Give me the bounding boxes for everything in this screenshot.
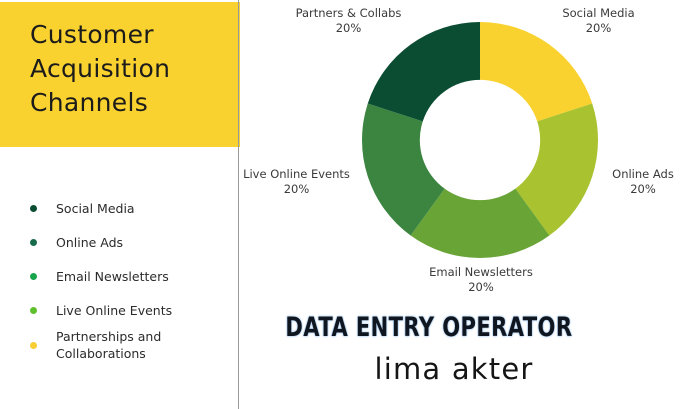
- slice-label-percent: 20%: [536, 21, 661, 36]
- donut-chart: [362, 22, 598, 258]
- donut-slice[interactable]: [480, 22, 592, 121]
- legend-item-social-media[interactable]: Social Media: [30, 192, 235, 225]
- legend-item-label: Online Ads: [56, 234, 123, 251]
- role-title: DATA ENTRY OPERATOR: [75, 312, 605, 343]
- donut-slice[interactable]: [368, 22, 480, 121]
- legend-item-email-newsletters[interactable]: Email Newsletters: [30, 260, 235, 293]
- slice-label-percent: 20%: [406, 280, 556, 295]
- legend-bullet-icon: [30, 273, 37, 280]
- slice-label-online-ads: Online Ads 20%: [606, 167, 680, 197]
- donut-slice-group: [362, 22, 598, 258]
- legend-bullet-icon: [30, 307, 37, 314]
- title-card: Customer Acquisition Channels: [0, 2, 240, 147]
- infographic-canvas: Customer Acquisition Channels Social Med…: [0, 0, 680, 409]
- slice-label-live-online-events: Live Online Events 20%: [239, 167, 354, 197]
- legend-item-label: Email Newsletters: [56, 268, 169, 285]
- person-name: lima akter: [0, 352, 680, 386]
- legend-item-label: Social Media: [56, 200, 135, 217]
- slice-label-name: Email Newsletters: [406, 265, 556, 280]
- legend-bullet-icon: [30, 342, 37, 349]
- vertical-divider: [238, 0, 239, 409]
- slice-label-percent: 20%: [606, 182, 680, 197]
- slice-label-email-newsletters: Email Newsletters 20%: [406, 265, 556, 295]
- legend-bullet-icon: [30, 205, 37, 212]
- slice-label-percent: 20%: [239, 182, 354, 197]
- legend-item-online-ads[interactable]: Online Ads: [30, 226, 235, 259]
- legend-bullet-icon: [30, 239, 37, 246]
- slice-label-name: Online Ads: [606, 167, 680, 182]
- slice-label-name: Partners & Collabs: [276, 6, 421, 21]
- slice-label-name: Live Online Events: [239, 167, 354, 182]
- slice-label-name: Social Media: [536, 6, 661, 21]
- slice-label-social-media: Social Media 20%: [536, 6, 661, 36]
- donut-chart-svg: [362, 22, 598, 258]
- page-title: Customer Acquisition Channels: [30, 18, 230, 120]
- slice-label-percent: 20%: [276, 21, 421, 36]
- slice-label-partners-collabs: Partners & Collabs 20%: [276, 6, 421, 36]
